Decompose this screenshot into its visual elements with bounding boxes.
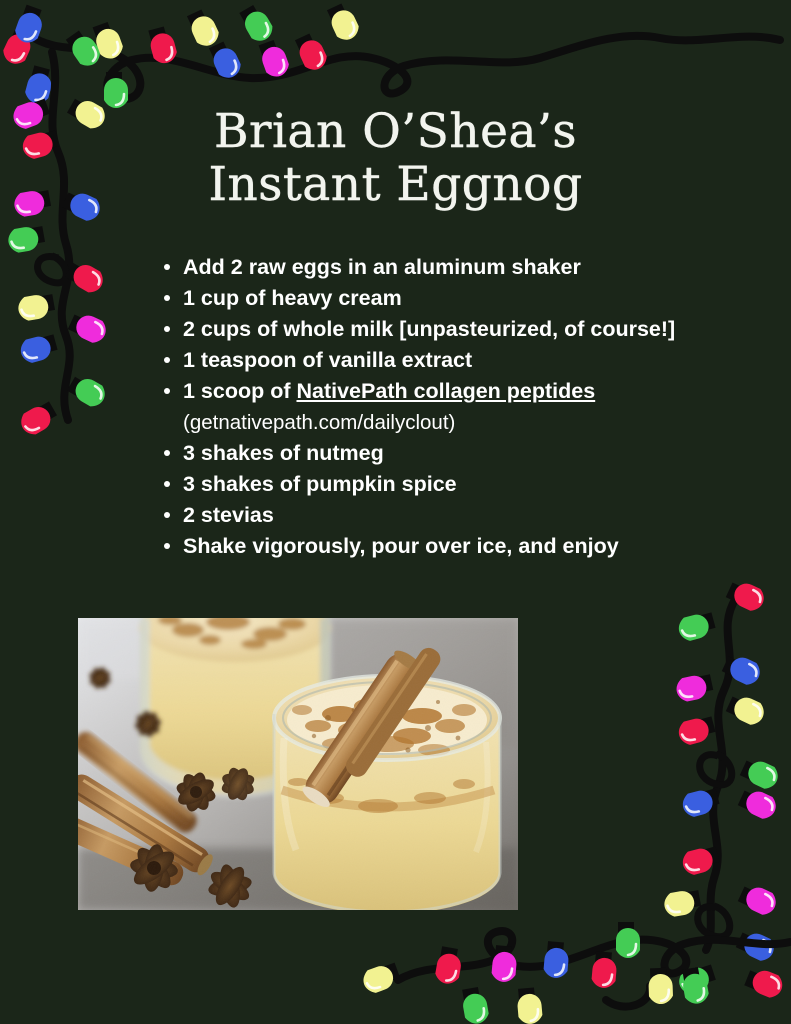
list-item: 2 stevias: [160, 500, 760, 531]
list-item: 1 teaspoon of vanilla extract: [160, 345, 760, 376]
eggnog-photo: [78, 618, 518, 910]
bullet-icon: [164, 357, 170, 363]
bullet-icon: [164, 326, 170, 332]
bullet-icon: [164, 388, 170, 394]
recipe-ingredients: Add 2 raw eggs in an aluminum shaker 1 c…: [160, 252, 760, 562]
bullet-icon: [164, 481, 170, 487]
ingredient-text: 2 stevias: [183, 503, 274, 527]
poster-title: Brian O’Shea’s Instant Eggnog: [0, 104, 791, 213]
bullet-icon: [164, 512, 170, 518]
bullet-icon: [164, 264, 170, 270]
bullet-icon: [164, 295, 170, 301]
ingredient-list: Add 2 raw eggs in an aluminum shaker 1 c…: [160, 252, 760, 562]
list-item: 1 cup of heavy cream: [160, 283, 760, 314]
title-line-1: Brian O’Shea’s: [0, 104, 791, 160]
ingredient-text: 1 teaspoon of vanilla extract: [183, 348, 472, 372]
list-item: 3 shakes of nutmeg: [160, 438, 760, 469]
ingredient-text: 2 cups of whole milk [unpasteurized, of …: [183, 317, 675, 341]
ingredient-text: Add 2 raw eggs in an aluminum shaker: [183, 255, 581, 279]
bullet-icon: [164, 450, 170, 456]
ingredient-text: 1 cup of heavy cream: [183, 286, 402, 310]
light-strand-top-left: [0, 1, 780, 108]
list-item-with-link: 1 scoop of NativePath collagen peptides: [160, 376, 760, 407]
nativepath-link[interactable]: NativePath collagen peptides: [296, 379, 595, 403]
nativepath-url-note: (getnativepath.com/dailyclout): [160, 407, 760, 438]
list-item: Add 2 raw eggs in an aluminum shaker: [160, 252, 760, 283]
light-strand-right: [662, 577, 785, 1000]
list-item: Shake vigorously, pour over ice, and enj…: [160, 531, 760, 562]
eggnog-recipe-poster: Brian O’Shea’s Instant Eggnog Add 2 raw …: [0, 0, 791, 1024]
bullet-icon: [164, 543, 170, 549]
list-item: 3 shakes of pumpkin spice: [160, 469, 760, 500]
title-line-2: Instant Eggnog: [0, 157, 791, 213]
ingredient-text: Shake vigorously, pour over ice, and enj…: [183, 534, 619, 558]
light-strand-bottom: [360, 922, 790, 1024]
ingredient-text-prefix: 1 scoop of: [183, 379, 296, 403]
ingredient-text: 3 shakes of nutmeg: [183, 441, 384, 465]
light-strand-left: [6, 52, 109, 438]
ingredient-text: 3 shakes of pumpkin spice: [183, 472, 457, 496]
list-item: 2 cups of whole milk [unpasteurized, of …: [160, 314, 760, 345]
